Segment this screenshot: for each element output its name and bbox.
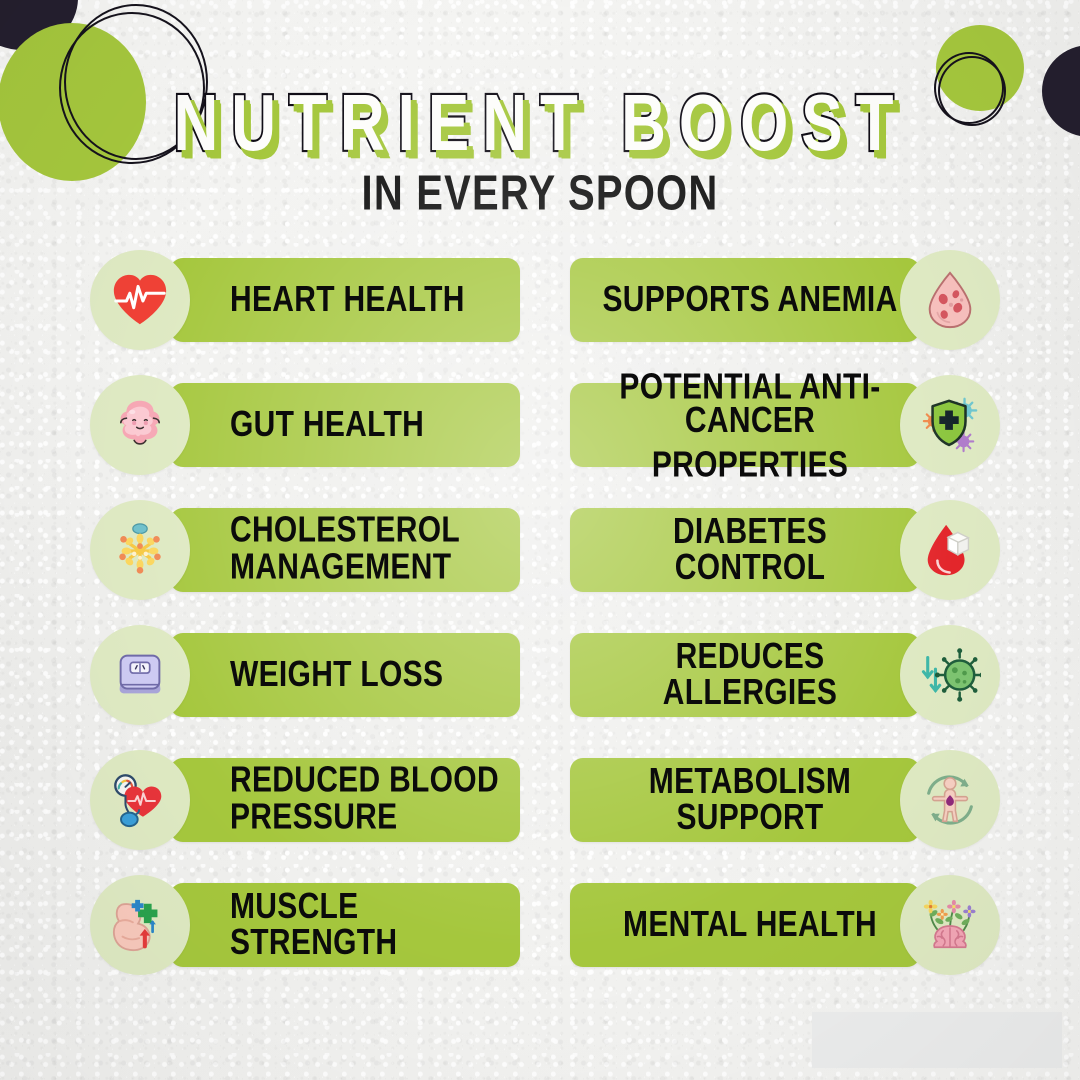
blood-pressure-monitor-icon [109,769,171,831]
page-subtitle: IN EVERY SPOON [0,128,1080,218]
benefit-label: REDUCES ALLERGIES [600,633,900,717]
benefit-label: POTENTIAL ANTI-CANCER PROPERTIES [600,383,900,467]
benefit-icon-badge [90,875,190,975]
virus-down-arrows-icon [919,644,981,706]
benefit-card[interactable]: MUSCLE STRENGTH [90,875,520,975]
benefit-card[interactable]: DIABETES CONTROL [570,500,1000,600]
benefit-icon-badge [90,625,190,725]
benefit-icon-badge [900,875,1000,975]
heart-pulse-icon [109,269,171,331]
blood-cell-drop-icon [919,269,981,331]
benefit-label: DIABETES CONTROL [600,508,900,592]
benefit-icon-badge [90,500,190,600]
benefits-grid: HEART HEALTH SUPPORTS ANEMIA GUT HEALTH [90,250,1000,975]
header: NUTRIENT BOOST IN EVERY SPOON [0,0,1080,202]
benefit-label: SUPPORTS ANEMIA [600,258,900,342]
benefit-card[interactable]: REDUCED BLOODPRESSURE [90,750,520,850]
benefit-card[interactable]: HEART HEALTH [90,250,520,350]
benefit-label: WEIGHT LOSS [230,633,502,717]
flexed-arm-icon [109,894,171,956]
benefit-card[interactable]: REDUCES ALLERGIES [570,625,1000,725]
benefit-card[interactable]: POTENTIAL ANTI-CANCER PROPERTIES [570,375,1000,475]
weighing-scale-icon [109,644,171,706]
benefit-card[interactable]: GUT HEALTH [90,375,520,475]
benefit-card[interactable]: CHOLESTEROLMANAGEMENT [90,500,520,600]
benefit-icon-badge [900,625,1000,725]
benefit-label: GUT HEALTH [230,383,502,467]
benefit-icon-badge [900,375,1000,475]
benefit-label: MUSCLE STRENGTH [230,883,502,967]
benefit-label: MENTAL HEALTH [600,883,900,967]
blood-drop-sugar-icon [919,519,981,581]
benefit-icon-badge [90,375,190,475]
body-metabolism-cycle-icon [919,769,981,831]
benefit-icon-badge [90,750,190,850]
intestine-icon [109,394,171,456]
benefit-icon-badge [900,750,1000,850]
benefit-label: HEART HEALTH [230,258,502,342]
cholesterol-cluster-icon [109,519,171,581]
benefit-card[interactable]: MENTAL HEALTH [570,875,1000,975]
benefit-icon-badge [900,250,1000,350]
brain-flowers-icon [919,894,981,956]
benefit-card[interactable]: SUPPORTS ANEMIA [570,250,1000,350]
benefit-card[interactable]: METABOLISM SUPPORT [570,750,1000,850]
benefit-card[interactable]: WEIGHT LOSS [90,625,520,725]
benefit-label: METABOLISM SUPPORT [600,758,900,842]
benefit-label: REDUCED BLOODPRESSURE [230,758,502,842]
benefit-icon-badge [900,500,1000,600]
benefit-label: CHOLESTEROLMANAGEMENT [230,508,502,592]
shield-cross-virus-icon [919,394,981,456]
blank-plate-bottom-right [812,1012,1062,1068]
benefit-icon-badge [90,250,190,350]
